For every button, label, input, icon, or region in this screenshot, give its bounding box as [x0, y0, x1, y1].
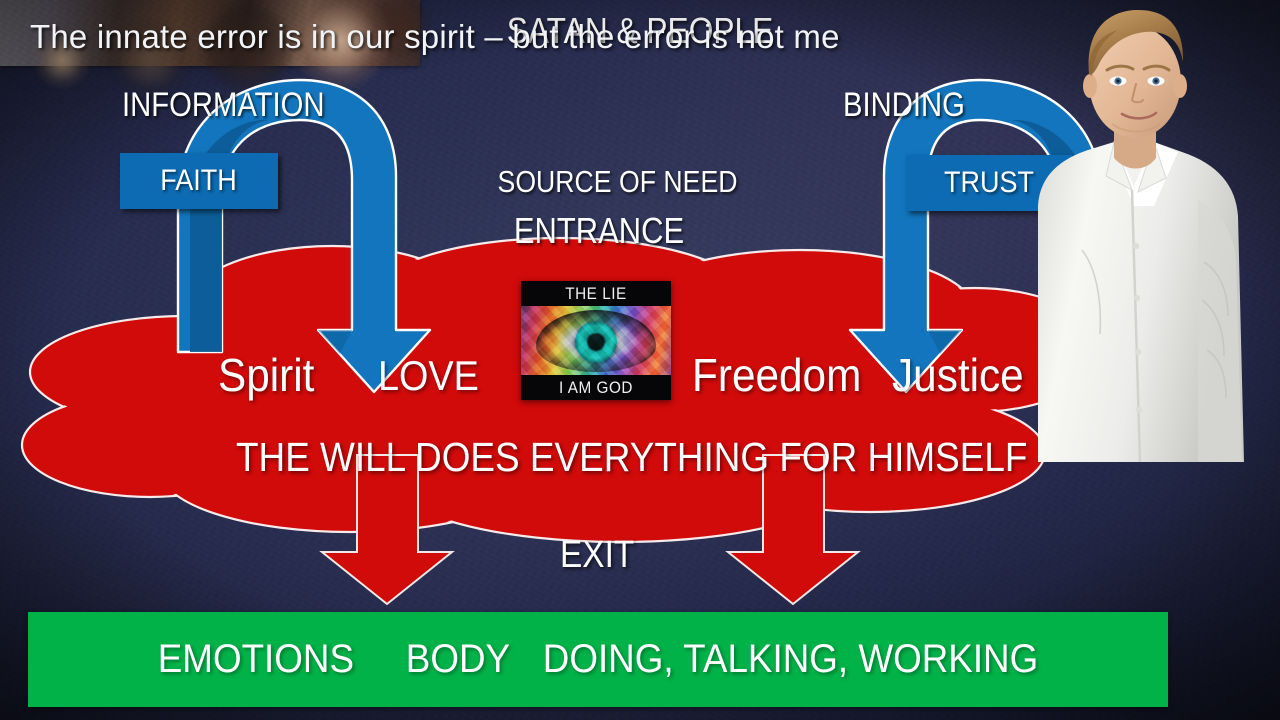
label-body: BODY	[406, 637, 510, 681]
i-am-god-caption: I AM GOD	[529, 375, 664, 400]
word-justice: Justice	[892, 348, 1024, 402]
label-actions: DOING, TALKING, WORKING	[543, 637, 1038, 681]
green-output-bar: EMOTIONS BODY DOING, TALKING, WORKING	[28, 612, 1168, 707]
faith-label: FAITH	[161, 164, 238, 198]
faith-box[interactable]: FAITH	[120, 153, 278, 209]
will-statement: THE WILL DOES EVERYTHING FOR HIMSELF	[236, 434, 1027, 481]
the-lie-caption: THE LIE	[529, 281, 664, 306]
word-freedom: Freedom	[692, 348, 861, 402]
label-source-of-need: SOURCE OF NEED	[498, 164, 738, 200]
label-binding: BINDING	[843, 86, 965, 125]
the-lie-card: THE LIE I AM GOD	[521, 281, 671, 400]
presenter-photo	[1022, 0, 1280, 462]
slide-title: The innate error is in our spirit – but …	[30, 18, 840, 56]
label-emotions: EMOTIONS	[158, 637, 354, 681]
word-spirit: Spirit	[218, 348, 314, 402]
label-exit: EXIT	[560, 534, 634, 577]
green-bar-text: EMOTIONS BODY DOING, TALKING, WORKING	[74, 637, 1123, 682]
slide-canvas: The innate error is in our spirit – but …	[0, 0, 1280, 720]
eye-image	[521, 306, 671, 375]
label-information: INFORMATION	[122, 86, 325, 125]
word-love: LOVE	[378, 352, 479, 400]
trust-label: TRUST	[944, 166, 1034, 200]
eye-facet-overlay	[521, 306, 671, 375]
label-entrance: ENTRANCE	[514, 210, 684, 252]
